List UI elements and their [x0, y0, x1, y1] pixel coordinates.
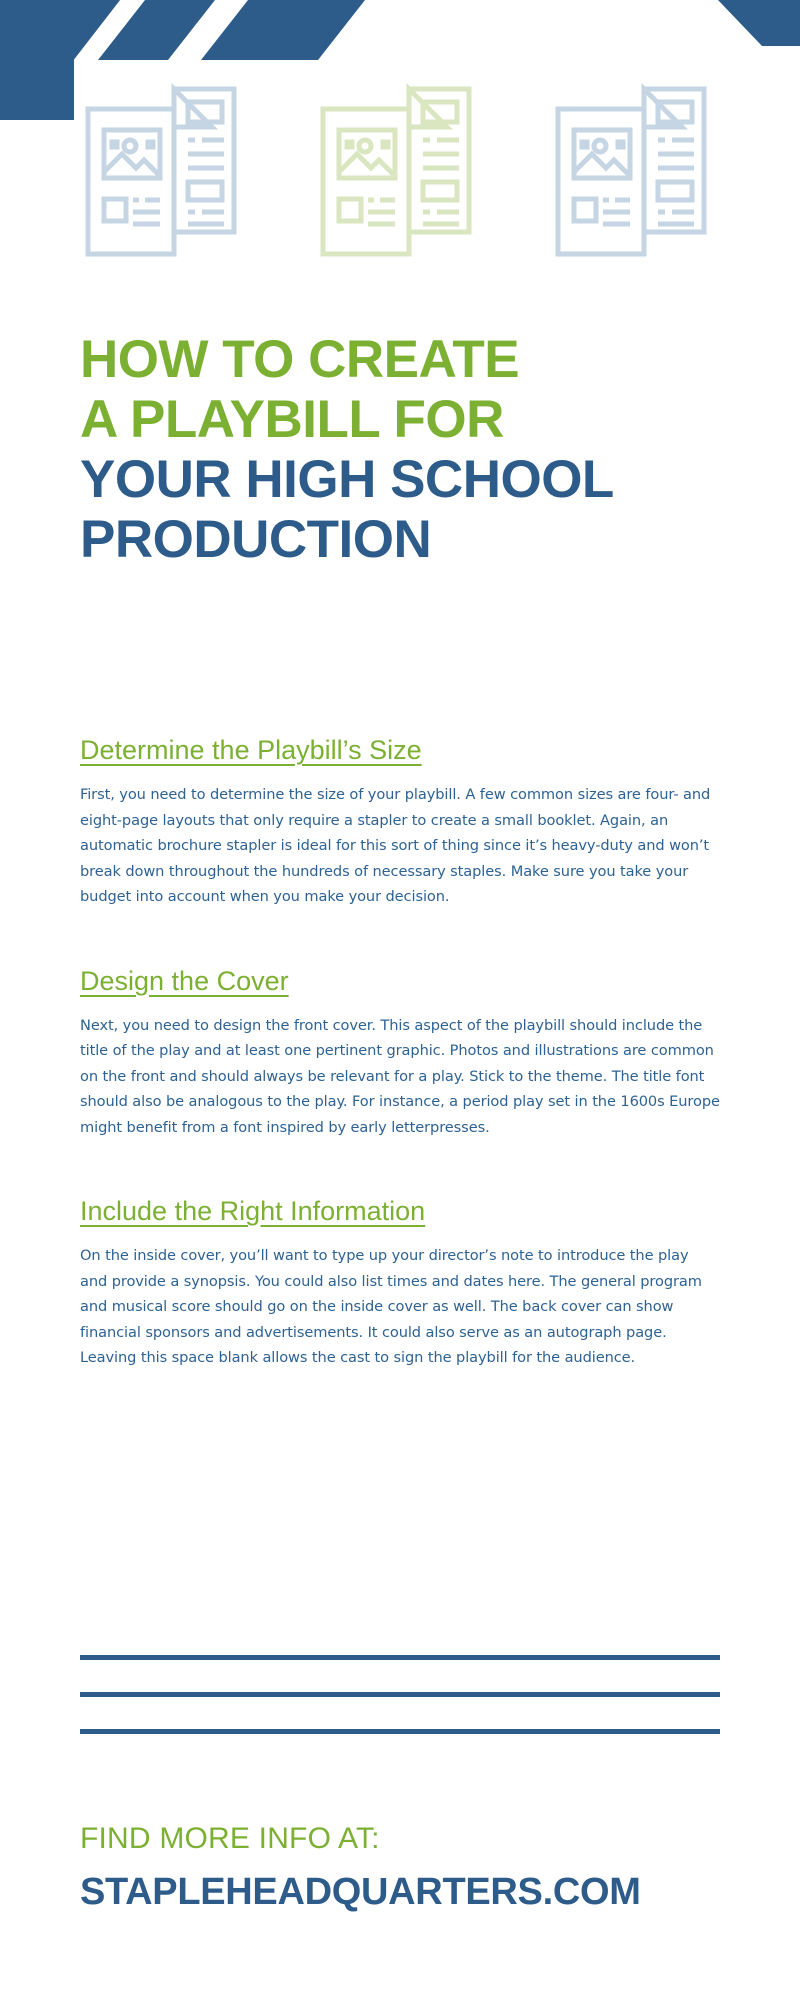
section-heading: Design the Cover — [80, 966, 720, 996]
section-right-information: Include the Right Information On the ins… — [80, 1196, 720, 1371]
page-title: HOW TO CREATE A PLAYBILL FOR YOUR HIGH S… — [80, 330, 730, 570]
top-right-corner-shape — [718, 0, 800, 46]
title-line-3: YOUR HIGH SCHOOL — [80, 450, 730, 510]
document-icon-row — [78, 82, 728, 262]
section-body: First, you need to determine the size of… — [80, 782, 720, 910]
title-line-1: HOW TO CREATE — [80, 330, 730, 390]
title-line-2: A PLAYBILL FOR — [80, 390, 730, 450]
document-icon-blue — [78, 82, 258, 257]
section-body: On the inside cover, you’ll want to type… — [80, 1243, 720, 1371]
infographic-page: HOW TO CREATE A PLAYBILL FOR YOUR HIGH S… — [0, 0, 800, 2000]
footer-lead-text: FIND MORE INFO AT: — [80, 1820, 730, 1858]
document-icon-blue — [548, 82, 728, 257]
section-determine-size: Determine the Playbill’s Size First, you… — [80, 735, 720, 910]
divider-rule — [80, 1655, 720, 1660]
divider-rules — [80, 1655, 720, 1734]
footer-website-url[interactable]: STAPLEHEADQUARTERS.COM — [80, 1868, 730, 1916]
top-stripe-1 — [98, 0, 215, 60]
document-icon-green — [313, 82, 493, 257]
divider-rule — [80, 1692, 720, 1697]
section-heading: Determine the Playbill’s Size — [80, 735, 720, 765]
top-stripe-2 — [201, 0, 365, 60]
footer: FIND MORE INFO AT: STAPLEHEADQUARTERS.CO… — [80, 1820, 730, 1916]
section-body: Next, you need to design the front cover… — [80, 1013, 720, 1141]
divider-rule — [80, 1729, 720, 1734]
content-sections: Determine the Playbill’s Size First, you… — [80, 735, 720, 1371]
title-line-4: PRODUCTION — [80, 510, 730, 570]
section-heading: Include the Right Information — [80, 1196, 720, 1226]
section-design-cover: Design the Cover Next, you need to desig… — [80, 966, 720, 1141]
